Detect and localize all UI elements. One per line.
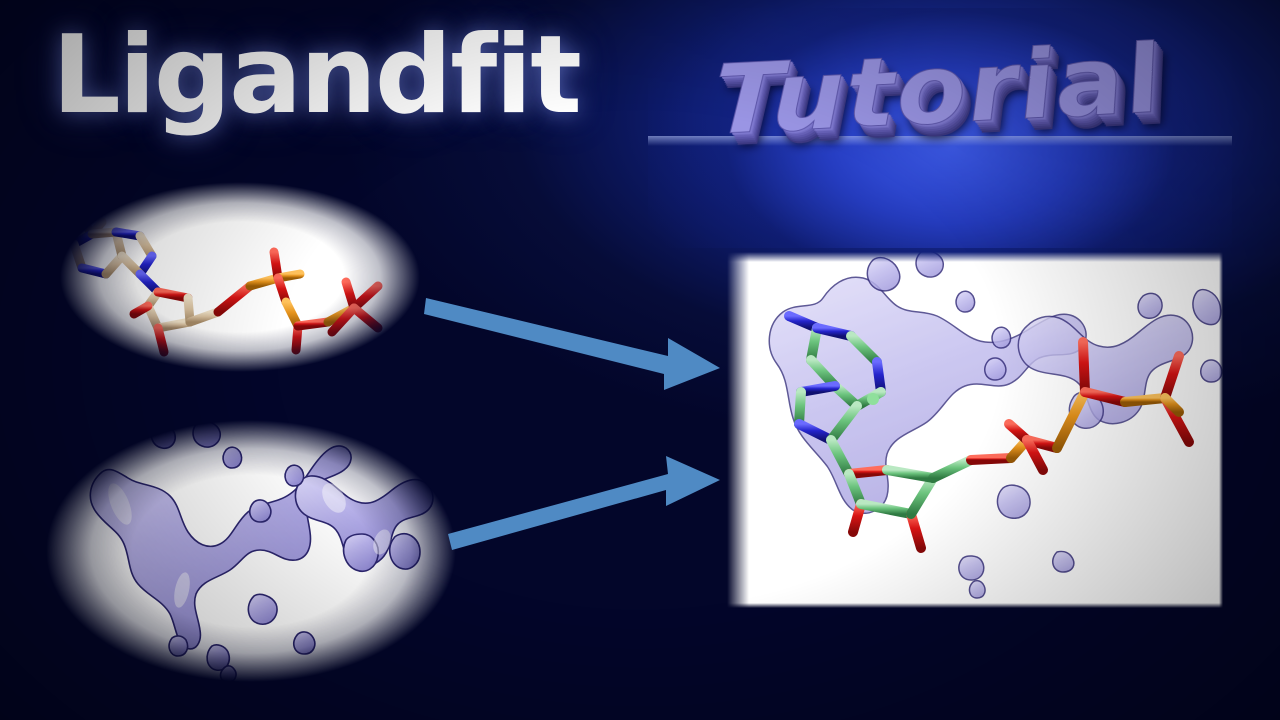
arrow-ligand-to-result	[424, 284, 724, 390]
fitted-result-panel	[727, 252, 1223, 608]
slide-stage: Tutorial Tutorial Ligandfit	[0, 0, 1280, 720]
ligand-model-oval	[60, 182, 420, 372]
tutorial-reflection: Tutorial	[656, 150, 1228, 248]
tutorial-text-label: Tutorial	[654, 20, 1225, 166]
tutorial-badge: Tutorial Tutorial	[648, 8, 1232, 248]
fitted-result-svg	[727, 252, 1223, 608]
arrow-density-to-result	[448, 452, 724, 550]
electron-density-oval	[46, 420, 456, 682]
ring-fusion-atom	[867, 393, 879, 405]
tutorial-text: Tutorial	[656, 22, 1228, 152]
ligand-model-svg	[60, 182, 420, 372]
electron-density-svg	[46, 420, 456, 682]
page-title: Ligandfit	[52, 22, 580, 130]
